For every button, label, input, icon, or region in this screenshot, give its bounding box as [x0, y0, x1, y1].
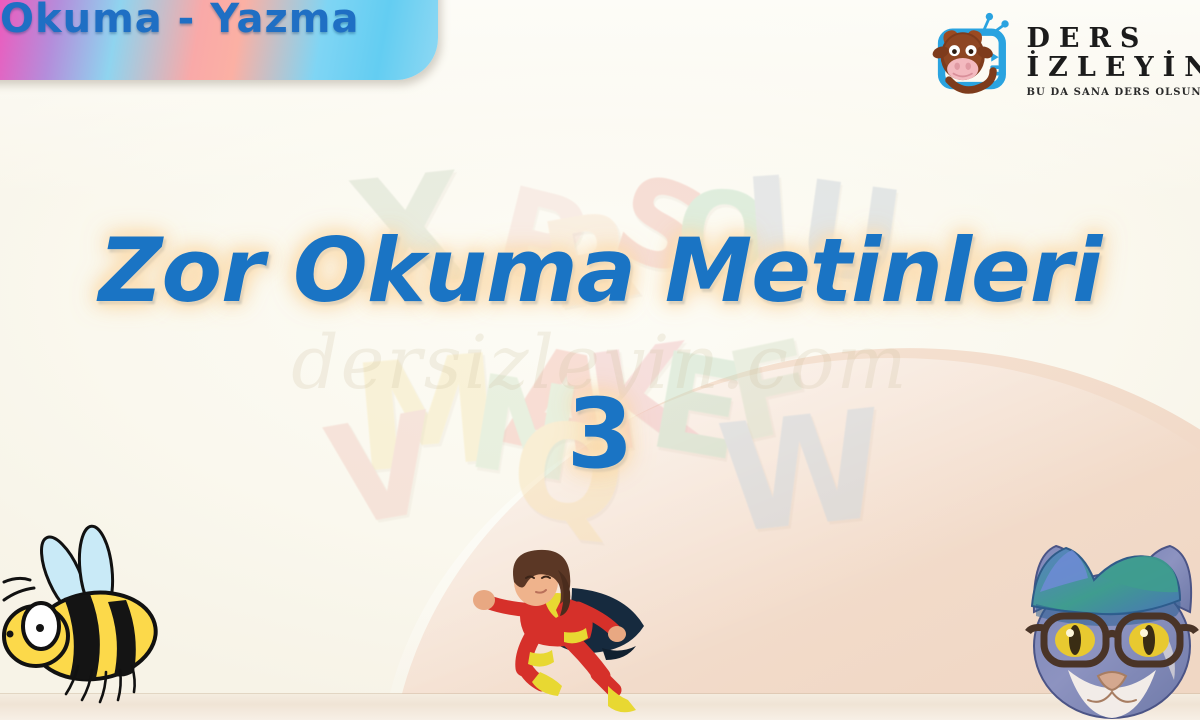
category-ribbon-label: Okuma - Yazma	[0, 0, 420, 42]
page-title-number: 3	[0, 378, 1200, 490]
brand-wordmark: DERS İZLEYİN BU DA SANA DERS OLSUN	[1027, 18, 1200, 98]
brand-name-line2: İZLEYİN	[1027, 53, 1200, 82]
page-title-container: Zor Okuma Metinleri	[0, 226, 1200, 316]
slide-canvas: XPRSOIUMAKEFNVQW dersizleyin.com Okuma -…	[0, 0, 1200, 720]
cat-with-glasses-illustration	[1024, 520, 1200, 720]
brand-tagline: BU DA SANA DERS OLSUN	[1027, 87, 1200, 98]
bee-illustration	[0, 524, 186, 714]
page-title: Zor Okuma Metinleri	[99, 226, 1102, 316]
cow-tv-logo-icon	[925, 12, 1017, 104]
brand-name-line1: DERS	[1027, 24, 1200, 53]
brand-logo[interactable]: DERS İZLEYİN BU DA SANA DERS OLSUN	[925, 12, 1200, 104]
superhero-girl-illustration	[452, 548, 662, 720]
category-ribbon[interactable]: Okuma - Yazma	[0, 0, 438, 80]
